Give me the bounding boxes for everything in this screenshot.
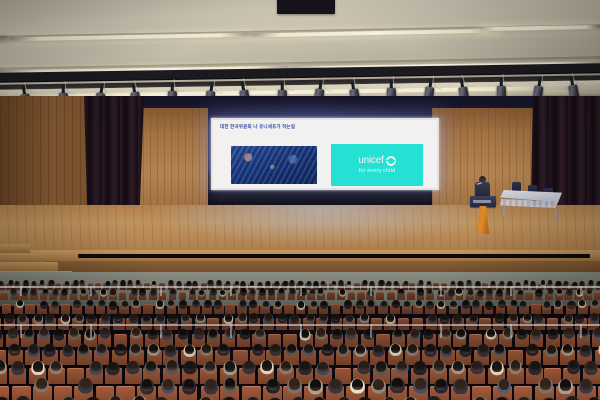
audience-person (307, 281, 311, 285)
audience-person (426, 344, 435, 353)
podium (470, 196, 496, 234)
audience-person (291, 314, 298, 321)
audience-person (511, 300, 517, 306)
audience-person (263, 301, 269, 307)
stage-table (500, 190, 562, 220)
audience-person (379, 280, 383, 284)
audience-person (180, 300, 186, 306)
audience-person (359, 361, 369, 371)
audience-person (486, 301, 492, 307)
handrail-post (230, 324, 232, 338)
handrail-post (300, 286, 302, 296)
audience-person (556, 281, 560, 285)
audience-person (391, 344, 400, 353)
audience-person (381, 301, 387, 307)
audience-person (279, 288, 284, 293)
audience-person (434, 360, 444, 370)
audience-person (182, 314, 189, 321)
audience-person (235, 281, 239, 285)
audience-person (398, 289, 403, 294)
unicef-wordmark: unicef (358, 156, 384, 166)
audience-person (541, 280, 545, 284)
audience-person (64, 345, 73, 354)
audience-person (304, 344, 313, 353)
audience-person (271, 344, 280, 353)
audience-person (332, 281, 336, 285)
audience-person (197, 313, 204, 320)
audience-person (215, 300, 221, 306)
audience-person (140, 288, 145, 293)
audience-person (540, 378, 551, 389)
audience-person (24, 280, 28, 284)
audience-person (195, 328, 203, 336)
audience-person (170, 289, 175, 294)
audience-person (339, 280, 343, 284)
audience-person (240, 300, 246, 306)
audience-person (149, 344, 158, 353)
presentation-slide: 대한 한국위원회 나 유니세프가 하는일 unicef for every ch… (213, 120, 437, 188)
handrail-post (90, 324, 92, 338)
audience-person (269, 288, 274, 293)
table-leg-left (503, 205, 505, 217)
audience-person (419, 280, 423, 284)
audience-person (592, 300, 598, 306)
audience-person (265, 313, 272, 320)
audience-person (22, 288, 27, 293)
handrail-post (440, 324, 442, 338)
audience-person (36, 378, 47, 389)
audience-person (524, 314, 531, 321)
audience-person (31, 289, 36, 294)
speaker-person (474, 176, 490, 198)
audience-person (405, 397, 417, 400)
audience-person (168, 300, 174, 306)
audience-person (339, 344, 348, 353)
audience-person (594, 328, 600, 336)
audience-person (209, 329, 217, 337)
audience-person (565, 328, 573, 336)
audience-person (472, 361, 482, 371)
audience-person (568, 301, 574, 307)
audience-person (569, 360, 579, 370)
audience-person (256, 329, 264, 337)
handrail-post (440, 286, 442, 296)
audience-person (226, 281, 230, 285)
audience-person (136, 280, 140, 284)
audience-person (487, 329, 495, 337)
audience-person (116, 344, 125, 353)
audience-person (208, 280, 212, 284)
audience-person (9, 328, 17, 336)
handrail-post (580, 286, 582, 296)
audience-person (13, 361, 23, 371)
audience-person (310, 289, 315, 294)
audience-person (345, 300, 351, 306)
audience-person (330, 379, 341, 390)
audience-person (357, 300, 363, 306)
handrail-post (160, 286, 162, 296)
audience-person (149, 329, 157, 337)
audience-person (566, 396, 578, 400)
audience-person (404, 301, 410, 307)
audience-person (102, 313, 109, 320)
audience-person (425, 329, 433, 337)
audience-person (487, 288, 492, 293)
audience-person (318, 362, 328, 372)
audience-person (453, 361, 463, 371)
audience-person (52, 301, 58, 307)
audience-person (387, 314, 394, 321)
audience-person (415, 378, 426, 389)
audience-person (287, 344, 296, 353)
audience-person (241, 288, 246, 293)
audience-person (591, 313, 598, 320)
audience-person (11, 288, 16, 293)
handrail-post (90, 286, 92, 296)
handrail-post (20, 286, 22, 296)
audience-person (244, 361, 254, 371)
audience-person (510, 314, 517, 321)
audience-person (146, 361, 156, 371)
audience-person (580, 281, 584, 285)
audience-person (290, 280, 294, 284)
audience-person (442, 329, 450, 337)
audience-person (455, 379, 466, 390)
audience-person (495, 344, 504, 353)
audience-person (408, 344, 417, 353)
audience-person (225, 378, 236, 389)
audience-person (225, 314, 232, 321)
handrail-post (510, 324, 512, 338)
audience-person (416, 300, 422, 306)
unicef-globe-icon (386, 156, 396, 166)
audience-person (79, 344, 88, 353)
podium-column (477, 206, 489, 234)
audience-person (374, 345, 383, 354)
audience-person (298, 301, 304, 307)
handrail-post (300, 324, 302, 338)
handrail-post (510, 286, 512, 296)
audience-person (497, 289, 502, 294)
audience-person (87, 300, 93, 306)
handrail-post (20, 324, 22, 338)
audience-person (266, 281, 270, 285)
audience-row (0, 396, 600, 400)
audience-person (310, 379, 321, 390)
audience-person (206, 379, 217, 390)
audience-person (474, 397, 486, 400)
audience-person (576, 314, 583, 321)
audience-person (347, 328, 355, 336)
audience-person (392, 378, 403, 389)
audience-person (496, 313, 503, 320)
audience-person (442, 345, 451, 354)
audience-person (394, 281, 398, 285)
audience-person (524, 280, 528, 284)
audience-person (130, 314, 137, 321)
audience-person (55, 329, 63, 337)
audience-person (99, 300, 105, 306)
audience-person (17, 396, 29, 400)
audience-person (428, 396, 440, 400)
audience-person (449, 289, 454, 294)
podium-desktop (470, 196, 496, 207)
audience-person (544, 301, 550, 307)
audience-person (35, 314, 42, 321)
audience-person (531, 281, 535, 285)
audience-person (279, 313, 286, 320)
audience-person (346, 315, 353, 322)
audience-person (340, 289, 345, 294)
audience-person (49, 280, 53, 284)
audience-person (586, 361, 596, 371)
audience-person (300, 361, 310, 371)
audience-person (239, 313, 246, 320)
audience-person (41, 301, 47, 307)
audience-person (563, 344, 572, 353)
audience-person (438, 301, 444, 307)
audience-person (397, 361, 407, 371)
audience-person (301, 329, 309, 337)
audience-person (520, 301, 526, 307)
audience-person (528, 344, 537, 353)
audience-person (281, 361, 291, 371)
audience-person (470, 315, 477, 322)
slide-title: 대한 한국위원회 나 유니세프가 하는일 (220, 124, 295, 130)
handrail-post (580, 324, 582, 338)
audience-person (51, 361, 61, 371)
audience-person (311, 301, 317, 307)
audience-person (132, 328, 140, 336)
audience-person (411, 329, 419, 337)
audience-person (19, 314, 26, 321)
audience-person (128, 361, 138, 371)
audience-person (560, 379, 571, 390)
audience-person (479, 344, 488, 353)
audience-person (6, 313, 13, 320)
audience-person (268, 379, 279, 390)
stage-floor-reflection (150, 205, 480, 245)
audience-person (177, 281, 181, 285)
audience-person (74, 280, 78, 284)
audience-person (548, 288, 553, 293)
audience-person (101, 289, 106, 294)
audience-person (29, 344, 38, 353)
audience-person (321, 301, 327, 307)
stage-front-shadow-gap (78, 254, 590, 258)
audience-person (289, 378, 300, 389)
audience-person (347, 281, 351, 285)
audience-person (143, 315, 150, 322)
audience-person (53, 289, 58, 294)
audience-person (157, 314, 164, 321)
audience-person (567, 289, 572, 294)
table-leg-right (555, 209, 557, 221)
handrail-post (370, 286, 372, 296)
audience-person (142, 379, 153, 390)
audience-person (110, 301, 116, 307)
audience-person (290, 288, 295, 293)
audience-person (33, 361, 43, 371)
audience-person (43, 289, 48, 294)
audience-person (468, 289, 473, 294)
audience-person (499, 300, 505, 306)
audience-person (241, 329, 249, 337)
audience-person (427, 301, 433, 307)
audience-person (333, 329, 341, 337)
audience-person (555, 300, 561, 306)
audience-person (491, 281, 495, 285)
audience-person (457, 329, 465, 337)
audience-person (225, 361, 235, 371)
audience-person (185, 345, 194, 354)
audience-person (10, 344, 19, 353)
audience-person (361, 313, 368, 320)
audience-person (456, 288, 461, 293)
audience-person (132, 288, 137, 293)
audience-person (46, 313, 53, 320)
audience-person (202, 344, 211, 353)
audience-person (97, 344, 106, 353)
audience-person (564, 281, 568, 285)
audience-person (121, 280, 125, 284)
unicef-tagline: for every child (359, 168, 395, 174)
audience-person (356, 345, 365, 354)
handrail-post (160, 324, 162, 338)
audience-person (15, 281, 19, 285)
projection-screen: 대한 한국위원회 나 유니세프가 하는일 unicef for every ch… (211, 118, 439, 190)
audience-person (193, 281, 197, 285)
audience-person (461, 345, 470, 354)
audience-person (376, 361, 386, 371)
audience-person (492, 361, 502, 371)
audience-person (418, 288, 423, 293)
audience-person (45, 344, 54, 353)
audience-person (187, 281, 191, 285)
audience-person (463, 300, 469, 306)
audience-person (110, 396, 122, 400)
audience-person (473, 300, 479, 306)
audience-person (163, 379, 174, 390)
audience-person (454, 314, 461, 321)
audience-person (317, 328, 325, 336)
audience-person (152, 281, 156, 285)
audience-person (441, 314, 448, 321)
audience-person (250, 313, 257, 320)
audience-person (101, 328, 109, 336)
audience-person (190, 289, 195, 294)
audience-person (70, 328, 78, 336)
audience-person (450, 301, 456, 307)
audience-person (110, 289, 115, 294)
podium-nameplate (473, 200, 491, 203)
ceiling-vent (277, 0, 335, 14)
audience-person (80, 378, 91, 389)
audience-person (511, 360, 521, 370)
audience-person (368, 300, 374, 306)
audience-person (565, 314, 572, 321)
handrail-post (370, 324, 372, 338)
audience-person (131, 344, 140, 353)
audience-person (185, 361, 195, 371)
audience-person (220, 290, 225, 295)
audience-person (427, 289, 432, 294)
audience-person (393, 300, 399, 306)
audience-person (184, 379, 195, 390)
audience-person (9, 280, 13, 284)
audience-person (205, 361, 215, 371)
unicef-logo-row: unicef (358, 156, 396, 166)
audience-person (167, 360, 177, 370)
audience-person (307, 314, 314, 321)
audience-person (548, 280, 552, 284)
audience-person (536, 289, 541, 294)
audience-person (76, 314, 83, 321)
audience-person (581, 345, 590, 354)
audience-person (0, 360, 5, 370)
audience-person (318, 288, 323, 293)
audience-person (323, 344, 332, 353)
audience-person (373, 379, 384, 390)
audience-person (254, 344, 263, 353)
audience-person (262, 360, 272, 370)
audience-person (88, 314, 95, 321)
audience-person (62, 314, 69, 321)
audience-person (530, 361, 540, 371)
audience-person (589, 280, 593, 284)
audience-person (65, 281, 69, 285)
audience-person (352, 379, 363, 390)
audience-person (157, 300, 163, 306)
audience-person (532, 329, 540, 337)
audience-person (283, 281, 287, 285)
audience-person (415, 361, 425, 371)
handrail-post (230, 286, 232, 296)
audience-person (163, 329, 171, 337)
audience-person (260, 288, 265, 293)
audience-person (429, 314, 436, 321)
audience-person (40, 280, 44, 284)
audience (0, 278, 600, 400)
slide-photo (231, 146, 317, 184)
audience-person (298, 281, 302, 285)
auditorium-photo: 대한 한국위원회 나 유니세프가 하는일 unicef for every ch… (0, 0, 600, 400)
unicef-logo-panel: unicef for every child (331, 144, 423, 186)
audience-person (458, 281, 462, 285)
audience-person (581, 379, 592, 390)
audience-person (63, 397, 75, 400)
audience-person (134, 396, 146, 400)
audience-person (91, 361, 101, 371)
audience-person (115, 313, 122, 320)
